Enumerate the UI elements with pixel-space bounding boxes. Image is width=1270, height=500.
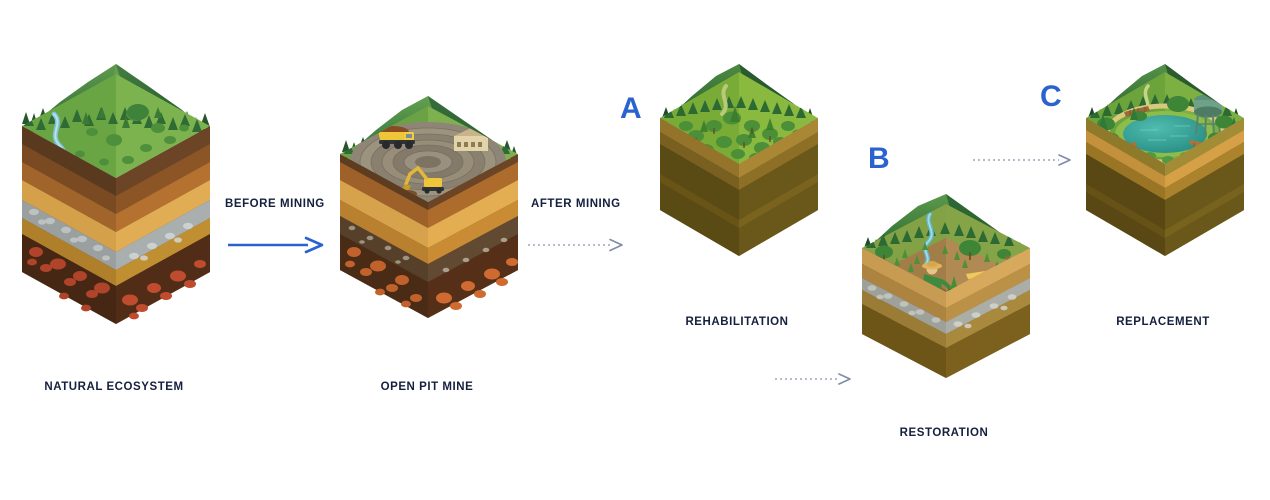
flow-label-before-mining: BEFORE MINING bbox=[225, 198, 325, 210]
block-replacement[interactable] bbox=[1082, 60, 1248, 292]
caption-replacement: REPLACEMENT bbox=[1082, 316, 1244, 328]
marker-a: A bbox=[620, 94, 642, 124]
block-open-pit-mine[interactable] bbox=[336, 92, 522, 358]
block-natural-ecosystem[interactable] bbox=[18, 62, 214, 374]
caption-restoration: RESTORATION bbox=[858, 427, 1030, 439]
flow-label-after-mining: AFTER MINING bbox=[531, 198, 621, 210]
caption-rehabilitation: REHABILITATION bbox=[656, 316, 818, 328]
diagram-canvas: NATURAL ECOSYSTEM BEFORE MINING bbox=[0, 0, 1270, 500]
arrow-after-mining bbox=[528, 236, 628, 254]
arrow-to-restoration bbox=[775, 371, 857, 387]
marker-c: C bbox=[1040, 82, 1062, 112]
marker-b: B bbox=[868, 144, 890, 174]
caption-natural-ecosystem: NATURAL ECOSYSTEM bbox=[18, 381, 210, 393]
block-rehabilitation[interactable] bbox=[656, 60, 822, 292]
caption-open-pit-mine: OPEN PIT MINE bbox=[336, 381, 518, 393]
block-restoration[interactable] bbox=[858, 192, 1034, 410]
arrow-before-mining bbox=[228, 236, 326, 254]
arrow-to-replacement bbox=[973, 152, 1077, 168]
